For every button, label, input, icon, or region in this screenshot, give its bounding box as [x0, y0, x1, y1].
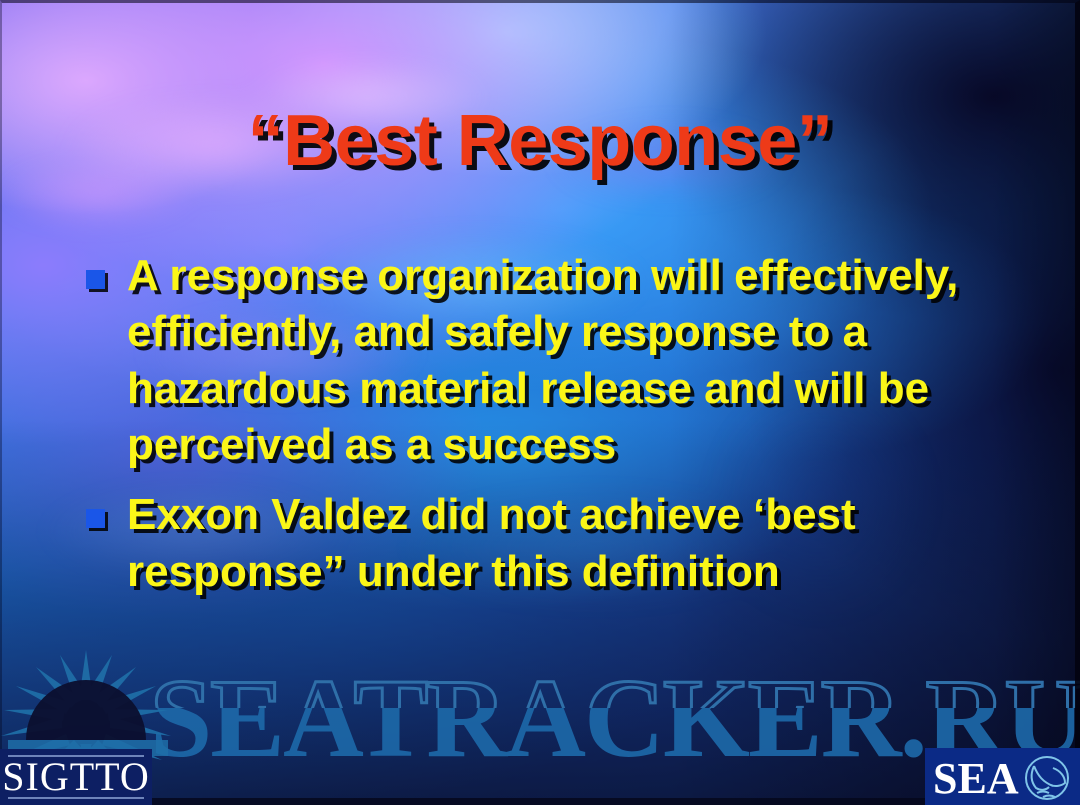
bullet-text: Exxon Valdez did not achieve ‘best respo…	[127, 487, 994, 600]
slide-body: A response organization will effectively…	[86, 248, 994, 614]
square-bullet-icon	[86, 509, 105, 528]
presentation-slide: SEATRACKER.RU SEATRACKER.RU “Best Respon…	[0, 0, 1080, 805]
sea-logo: SEA	[925, 748, 1080, 805]
list-item: Exxon Valdez did not achieve ‘best respo…	[86, 487, 994, 600]
bullet-text: A response organization will effectively…	[127, 248, 994, 473]
square-bullet-icon	[86, 270, 105, 289]
sigtto-logo: SIGTTO	[0, 648, 176, 805]
sigtto-wordmark-text: SIGTTO	[2, 754, 149, 799]
list-item: A response organization will effectively…	[86, 248, 994, 473]
sea-wordmark-text: SEA	[933, 754, 1019, 803]
slide-title: “Best Response”	[0, 100, 1080, 182]
sigtto-wordmark-box: SIGTTO	[0, 749, 152, 805]
